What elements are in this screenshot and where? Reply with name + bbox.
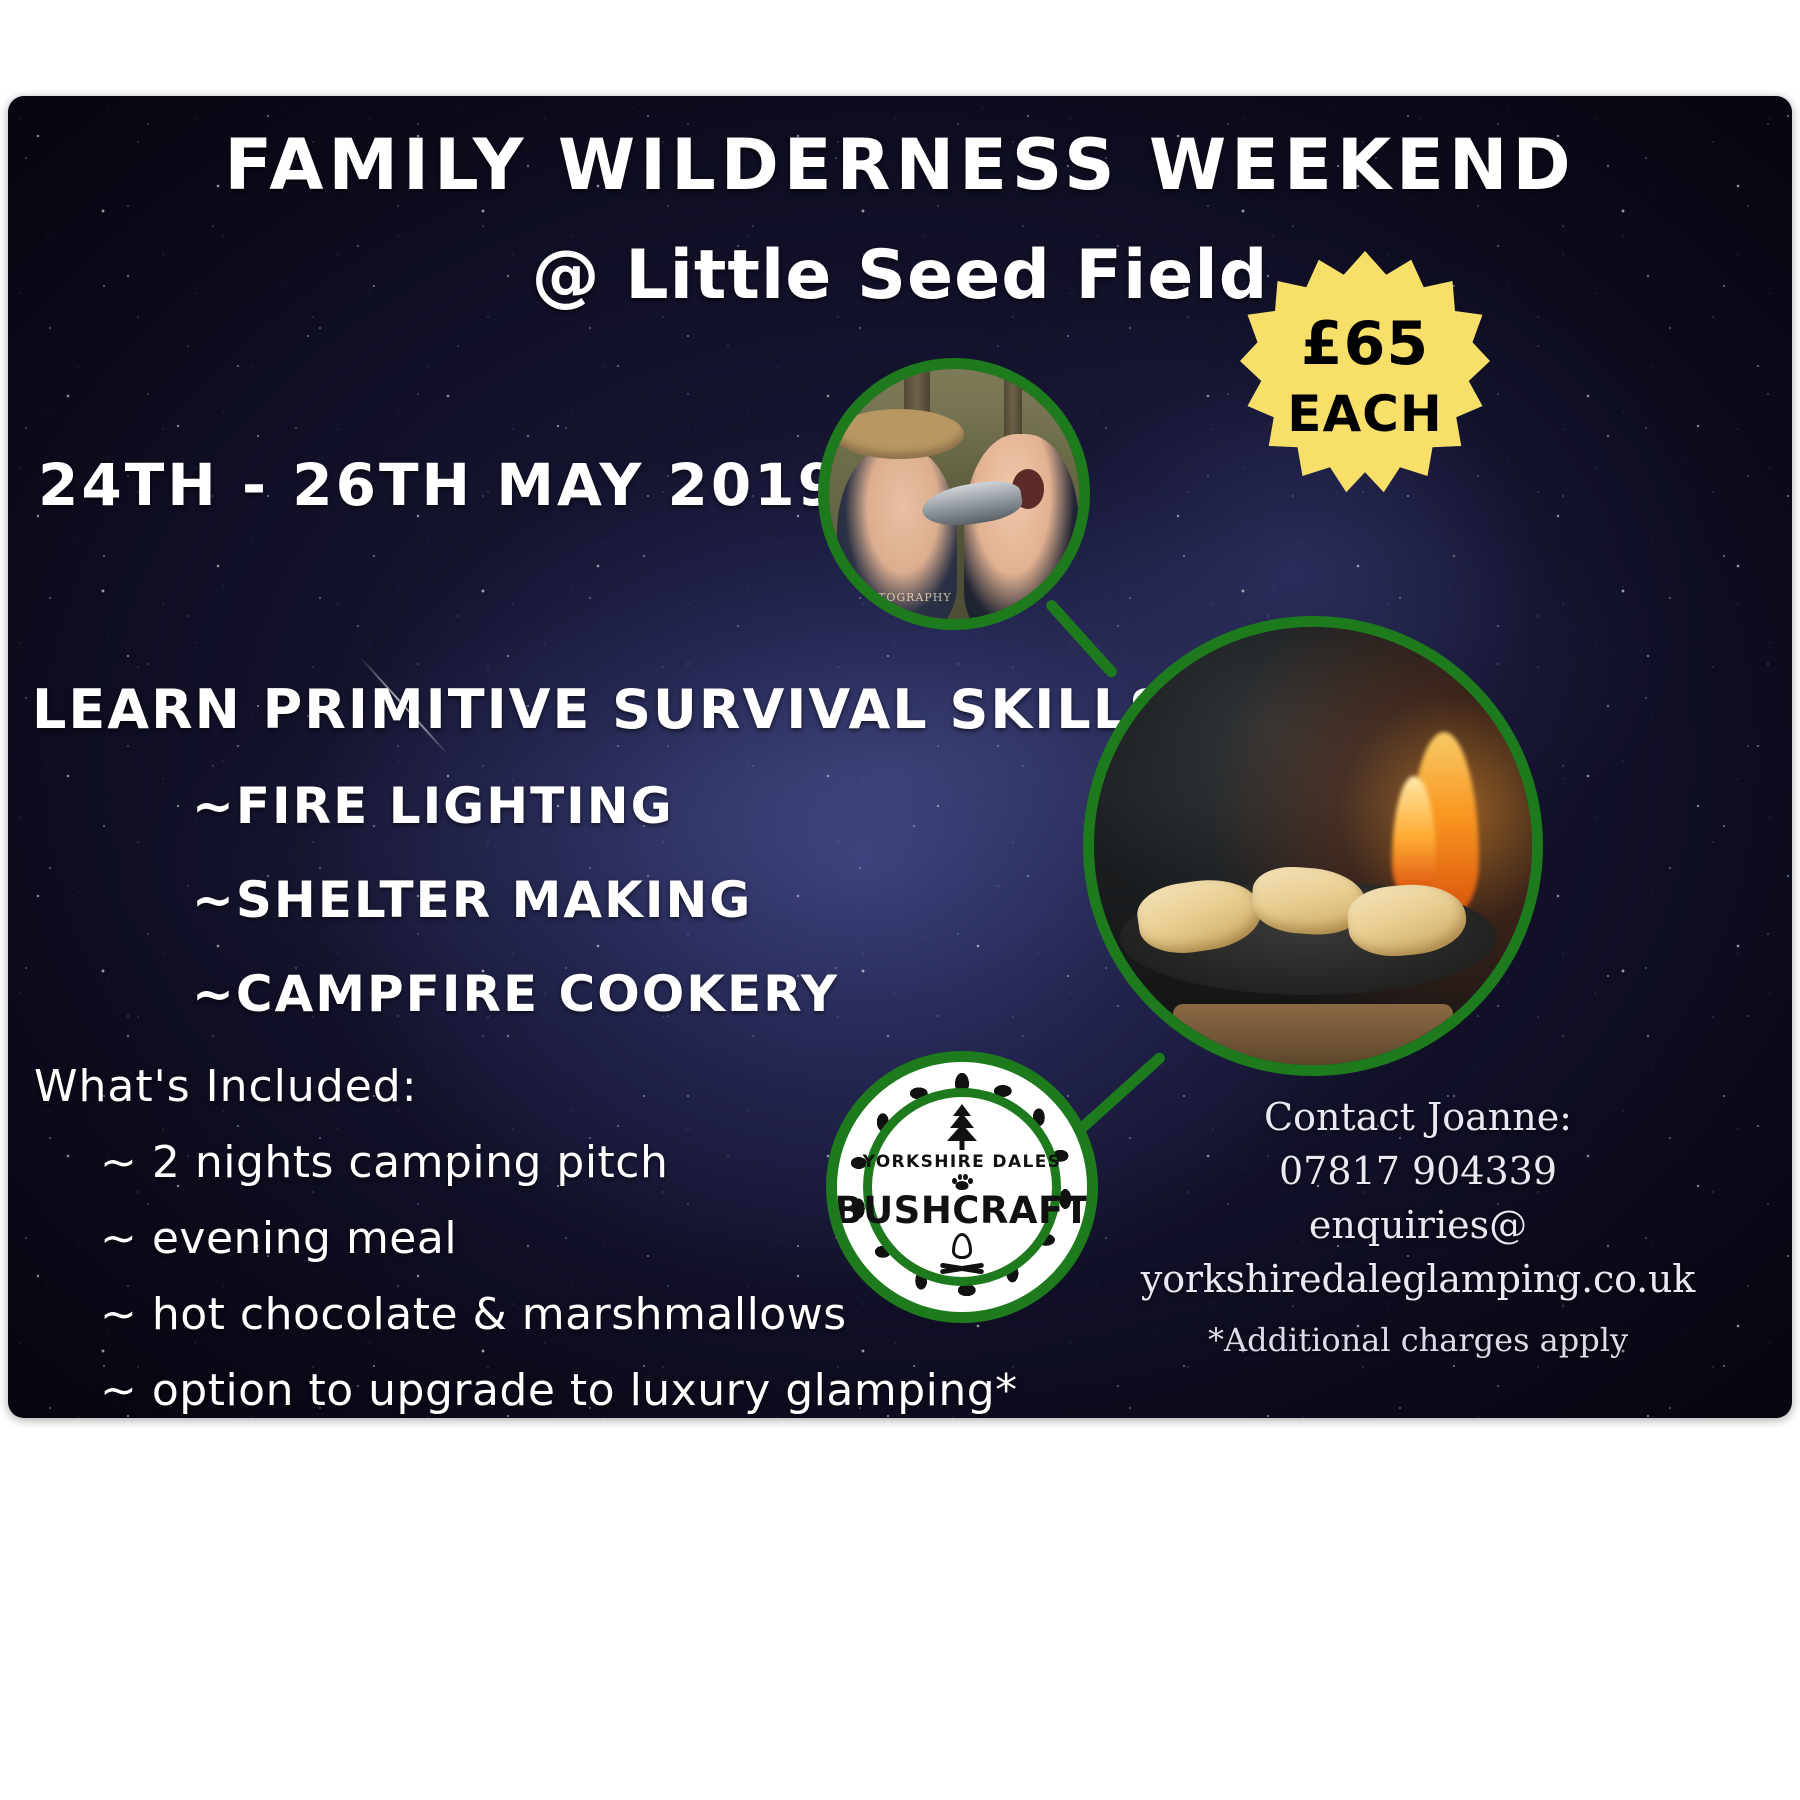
contact-email-domain[interactable]: yorkshiredaleglamping.co.uk	[1068, 1253, 1768, 1307]
fire-log	[1173, 1004, 1453, 1065]
poster-canvas: FAMILY WILDERNESS WEEKEND @ Little Seed …	[8, 96, 1792, 1418]
photo-kids-artwork	[829, 369, 1079, 619]
logo-top-text: YORKSHIRE DALES	[863, 1152, 1062, 1172]
pine-tree-icon	[942, 1104, 982, 1150]
photo-food-artwork	[1094, 627, 1532, 1065]
price-badge: £65 EACH	[1240, 251, 1490, 501]
photo-watermark: PHOTOGRAPHY	[849, 591, 952, 604]
skill-item-campfire-cookery: ~CAMPFIRE COOKERY	[192, 965, 1194, 1023]
price-unit: EACH	[1287, 385, 1442, 443]
logo-main-text: BUSHCRAFT	[834, 1189, 1089, 1232]
campfire-icon	[938, 1233, 986, 1273]
logo-contents: YORKSHIRE DALES BUSHCRAFT	[837, 1062, 1087, 1312]
yorkshire-dales-bushcraft-logo: YORKSHIRE DALES BUSHCRAFT	[826, 1051, 1098, 1323]
contact-phone[interactable]: 07817 904339	[1068, 1145, 1768, 1199]
event-dates: 24TH - 26TH MAY 2019	[38, 451, 841, 519]
child-right	[964, 434, 1079, 630]
survival-skills-block: LEARN PRIMITIVE SURVIVAL SKILLS: ~FIRE L…	[32, 678, 1194, 1023]
skill-item-shelter-making: ~SHELTER MAKING	[192, 871, 1194, 929]
included-item-glamping-upgrade: ~ option to upgrade to luxury glamping*	[100, 1365, 1018, 1416]
poster-title-line-2: @ Little Seed Field	[8, 236, 1792, 315]
photo-watermark: RY	[1120, 649, 1141, 663]
price-badge-text: £65 EACH	[1240, 251, 1490, 501]
contact-email-user[interactable]: enquiries@	[1068, 1199, 1768, 1253]
photo-bubble-kids-with-fish: PHOTOGRAPHY	[818, 358, 1090, 630]
poster-title-line-1: FAMILY WILDERNESS WEEKEND	[8, 124, 1792, 206]
price-amount: £65	[1301, 309, 1429, 379]
contact-heading: Contact Joanne:	[1068, 1091, 1768, 1145]
sun-hat	[834, 409, 964, 459]
skill-item-fire-lighting: ~FIRE LIGHTING	[192, 777, 1194, 835]
photo-bubble-campfire-cookery: RY	[1083, 616, 1543, 1076]
contact-block: Contact Joanne: 07817 904339 enquiries@ …	[1068, 1091, 1768, 1307]
additional-charges-note: *Additional charges apply	[1068, 1321, 1768, 1359]
paw-print-icon	[951, 1174, 973, 1190]
skills-heading: LEARN PRIMITIVE SURVIVAL SKILLS:	[32, 678, 1194, 741]
